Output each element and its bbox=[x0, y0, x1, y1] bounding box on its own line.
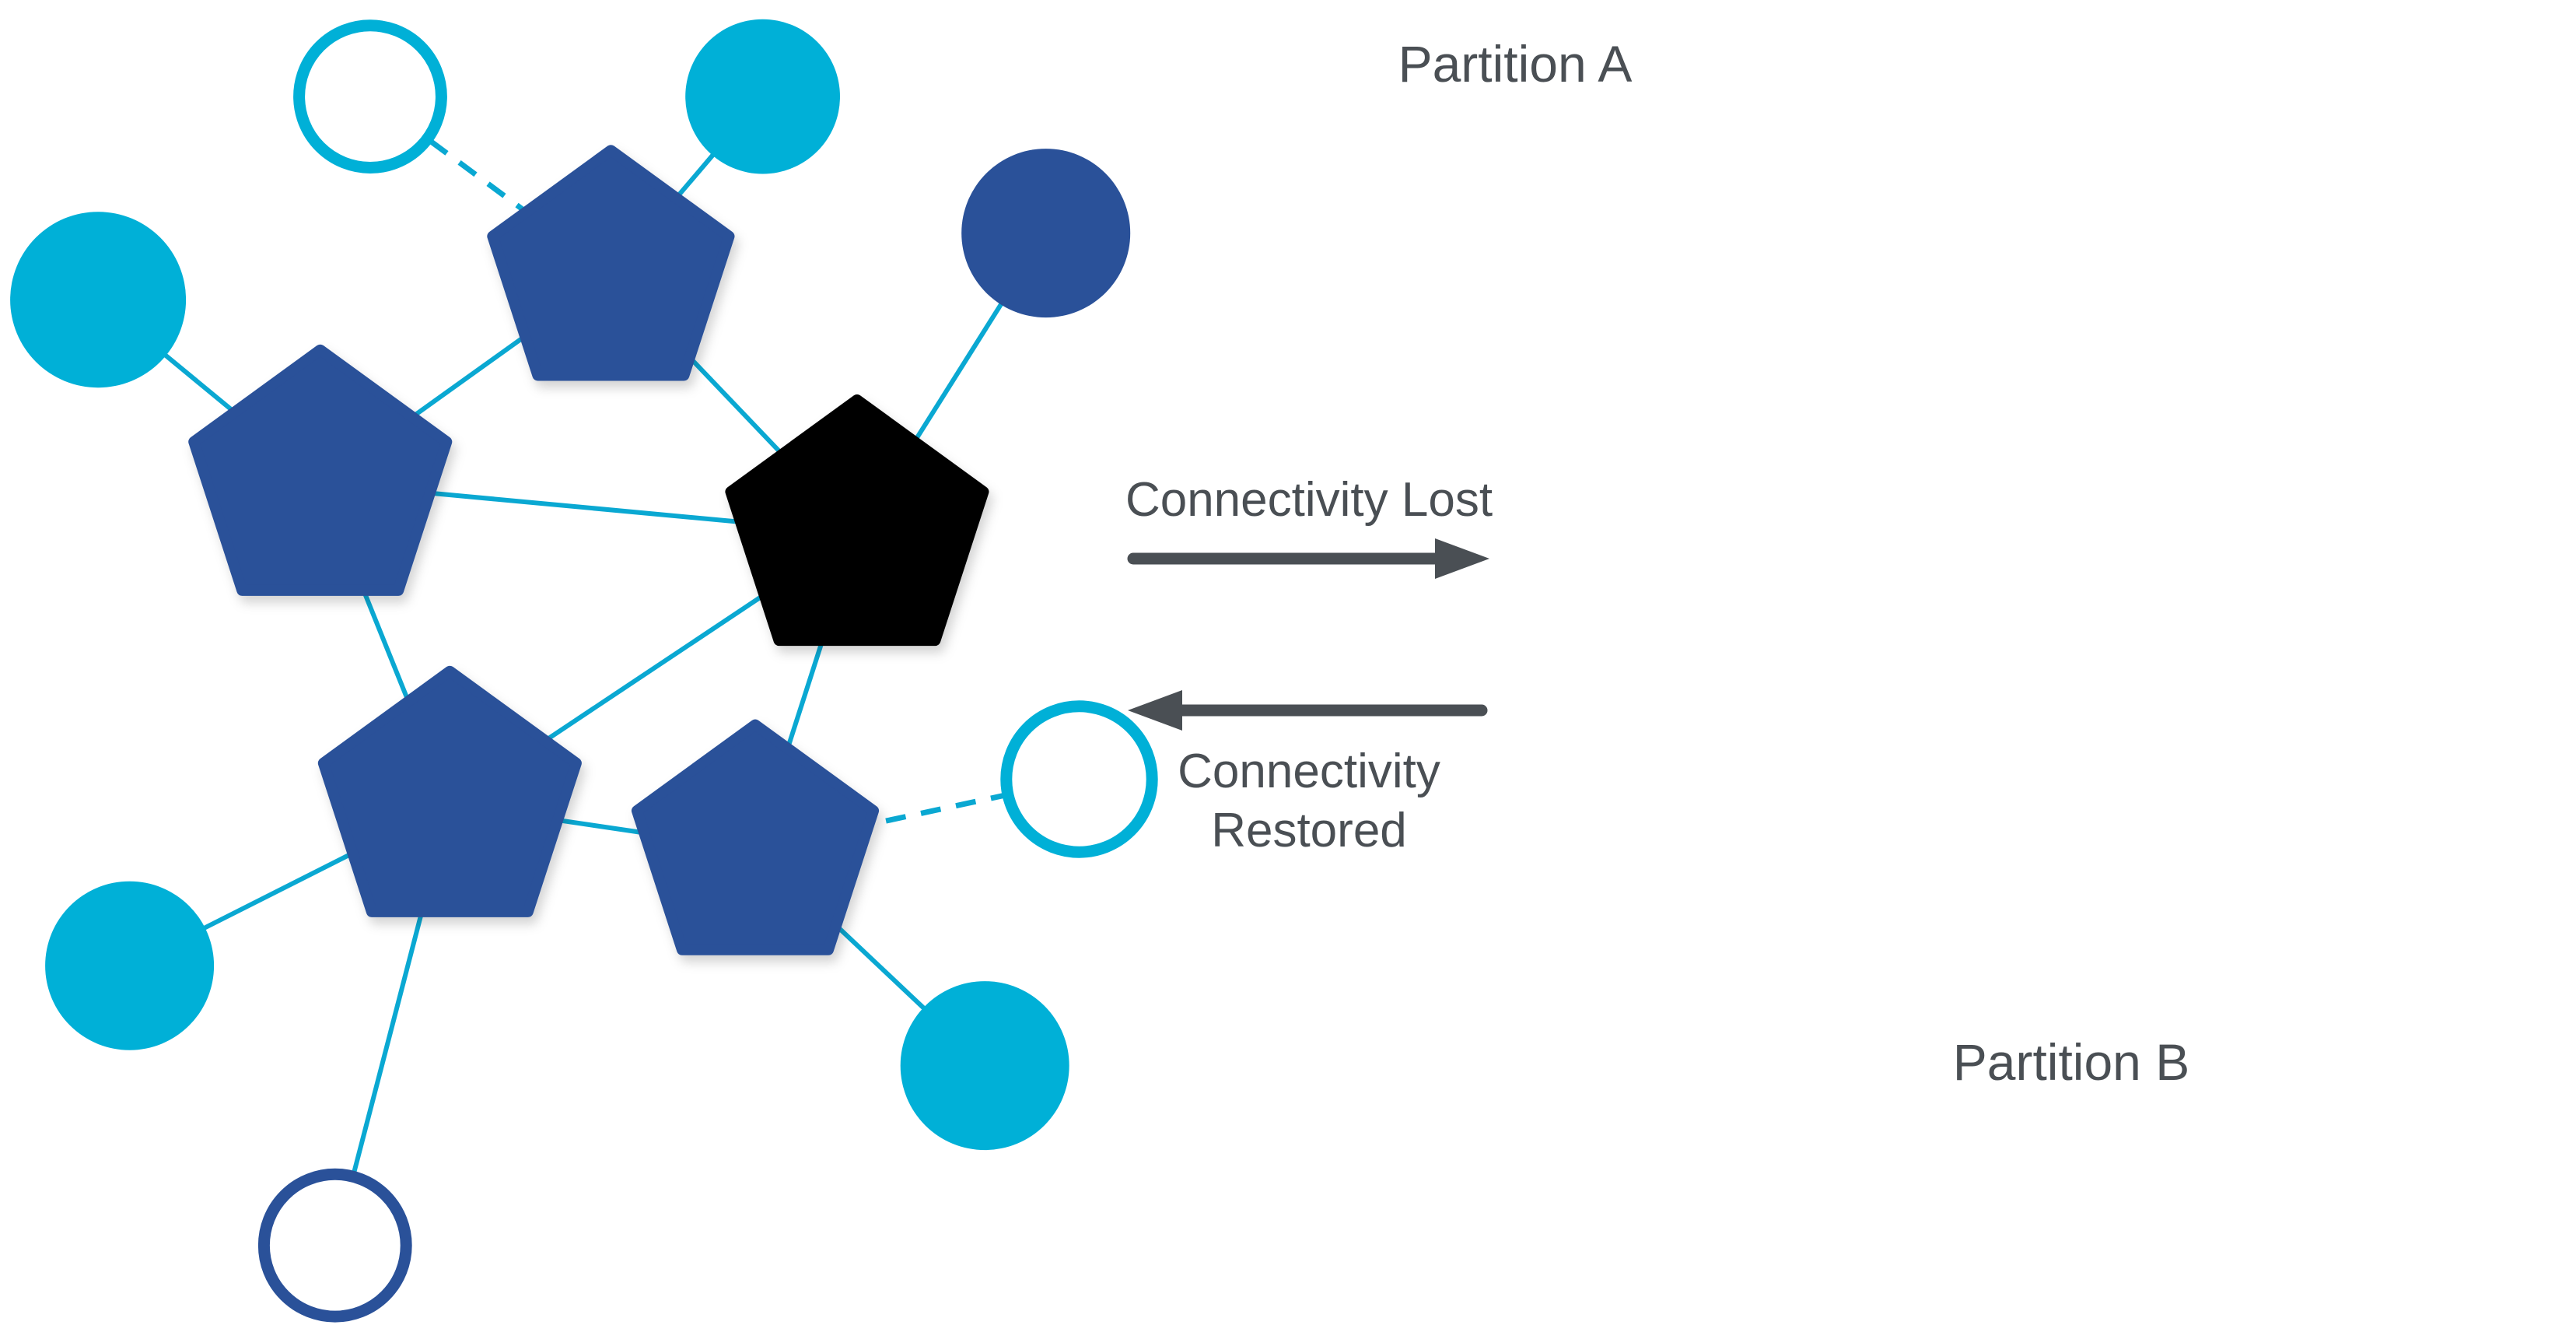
diagram-canvas: Connectivity Lost Connectivity Restored … bbox=[0, 0, 2576, 1332]
edge-L_p_top-to-L_p_left bbox=[405, 331, 531, 422]
left-hollow-circle-L_c_hollow_top[interactable] bbox=[299, 26, 442, 168]
left-peer-pentagon-L_p_top[interactable] bbox=[492, 150, 729, 375]
connectivity-lost-arrow bbox=[1133, 538, 1489, 579]
edge-L_p_left-to-L_p_black bbox=[425, 492, 754, 523]
edge-L_p_black-to-L_p_lower_left bbox=[537, 591, 770, 746]
edge-L_p_lower_left-to-L_b_hollow_bottom bbox=[354, 906, 423, 1173]
left-peer-pentagon-L_p_lower_right[interactable] bbox=[637, 725, 873, 950]
edge-L_b_circ_right-to-L_p_black bbox=[913, 302, 1003, 444]
edge-L_p_left-to-L_p_lower_left bbox=[359, 580, 411, 707]
left-filled-circle-L_c_bottom_left[interactable] bbox=[45, 882, 214, 1050]
left-filled-circle-L_b_circ_right[interactable] bbox=[961, 149, 1130, 317]
partition-b-label: Partition B bbox=[1953, 1033, 2189, 1091]
edge-L_c_top-to-L_p_top bbox=[674, 154, 714, 201]
connectivity-lost-label: Connectivity Lost bbox=[1125, 473, 1493, 527]
left-leader-pentagon-L_p_black[interactable] bbox=[730, 400, 983, 640]
network-partition-diagram: Connectivity Lost Connectivity Restored … bbox=[0, 0, 2576, 1332]
edge-L_p_lower_left-to-L_c_bottom_left bbox=[202, 851, 356, 929]
edge-L_p_lower_right-to-L_c_bottom_right bbox=[827, 917, 926, 1010]
left-hollow-circle-L_b_hollow_bottom[interactable] bbox=[264, 1174, 406, 1316]
left-graph-nodes bbox=[10, 19, 1152, 1316]
left-hollow-circle-L_c_hollow_right[interactable] bbox=[1006, 706, 1152, 852]
partition-a-label: Partition A bbox=[1398, 35, 1633, 93]
left-peer-pentagon-L_p_lower_left[interactable] bbox=[324, 671, 576, 912]
left-filled-circle-L_c_left[interactable] bbox=[10, 212, 186, 387]
edge-L_p_black-to-L_p_lower_right bbox=[786, 633, 825, 756]
connectivity-restored-label-line1: Connectivity bbox=[1178, 745, 1440, 798]
connectivity-restored-label-line2: Restored bbox=[1211, 804, 1407, 857]
left-filled-circle-L_c_bottom_right[interactable] bbox=[901, 981, 1069, 1150]
edge-L_p_top-to-L_p_black bbox=[678, 345, 785, 457]
connectivity-restored-arrow bbox=[1128, 690, 1482, 731]
left-peer-pentagon-L_p_left[interactable] bbox=[194, 350, 446, 591]
edge-L_c_left-to-L_p_left bbox=[163, 354, 240, 417]
edge-L_c_hollow_top-to-L_p_top bbox=[431, 142, 533, 217]
left-filled-circle-L_c_top[interactable] bbox=[685, 19, 840, 174]
